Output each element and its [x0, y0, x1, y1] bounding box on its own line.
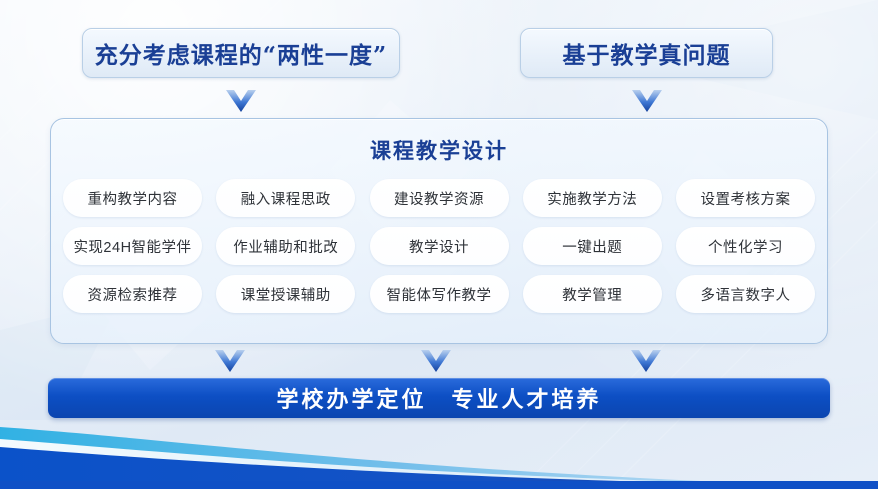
- header-box-course-attributes: 充分考虑课程的“两性一度”: [82, 28, 400, 78]
- pill-item[interactable]: 作业辅助和批改: [216, 227, 355, 265]
- header-box-label: 基于教学真问题: [563, 36, 731, 70]
- chevron-down-icon: [215, 350, 245, 372]
- pill-row: 资源检索推荐 课堂授课辅助 智能体写作教学 教学管理 多语言数字人: [63, 275, 815, 313]
- pill-grid: 重构教学内容 融入课程思政 建设教学资源 实施教学方法 设置考核方案 实现24H…: [51, 179, 827, 313]
- pill-item[interactable]: 融入课程思政: [216, 179, 355, 217]
- pill-item[interactable]: 一键出题: [523, 227, 662, 265]
- slide-canvas: 充分考虑课程的“两性一度” 基于教学真问题 课程教学设计 重构教学内容: [0, 0, 878, 489]
- pill-item[interactable]: 资源检索推荐: [63, 275, 202, 313]
- pill-item[interactable]: 个性化学习: [676, 227, 815, 265]
- pill-item[interactable]: 重构教学内容: [63, 179, 202, 217]
- pill-item[interactable]: 教学管理: [523, 275, 662, 313]
- chevron-down-icon: [421, 350, 451, 372]
- pill-row: 实现24H智能学伴 作业辅助和批改 教学设计 一键出题 个性化学习: [63, 227, 815, 265]
- pill-item[interactable]: 建设教学资源: [370, 179, 509, 217]
- header-box-real-teaching-problem: 基于教学真问题: [520, 28, 773, 78]
- bottom-banner: 学校办学定位 专业人才培养: [48, 378, 830, 418]
- pill-item[interactable]: 实施教学方法: [523, 179, 662, 217]
- pill-item[interactable]: 设置考核方案: [676, 179, 815, 217]
- pill-item[interactable]: 智能体写作教学: [370, 275, 509, 313]
- pill-item[interactable]: 多语言数字人: [676, 275, 815, 313]
- bottom-decoration: [0, 409, 878, 489]
- course-design-panel: 课程教学设计 重构教学内容 融入课程思政 建设教学资源 实施教学方法 设置考核方…: [50, 118, 828, 344]
- pill-item[interactable]: 课堂授课辅助: [216, 275, 355, 313]
- header-box-label: 充分考虑课程的“两性一度”: [95, 36, 387, 70]
- bottom-banner-label: 学校办学定位 专业人才培养: [276, 382, 601, 414]
- chevron-down-icon: [226, 90, 256, 112]
- pill-item[interactable]: 实现24H智能学伴: [63, 227, 202, 265]
- chevron-down-icon: [631, 350, 661, 372]
- pill-row: 重构教学内容 融入课程思政 建设教学资源 实施教学方法 设置考核方案: [63, 179, 815, 217]
- chevron-down-icon: [632, 90, 662, 112]
- panel-title: 课程教学设计: [51, 135, 827, 165]
- pill-item[interactable]: 教学设计: [370, 227, 509, 265]
